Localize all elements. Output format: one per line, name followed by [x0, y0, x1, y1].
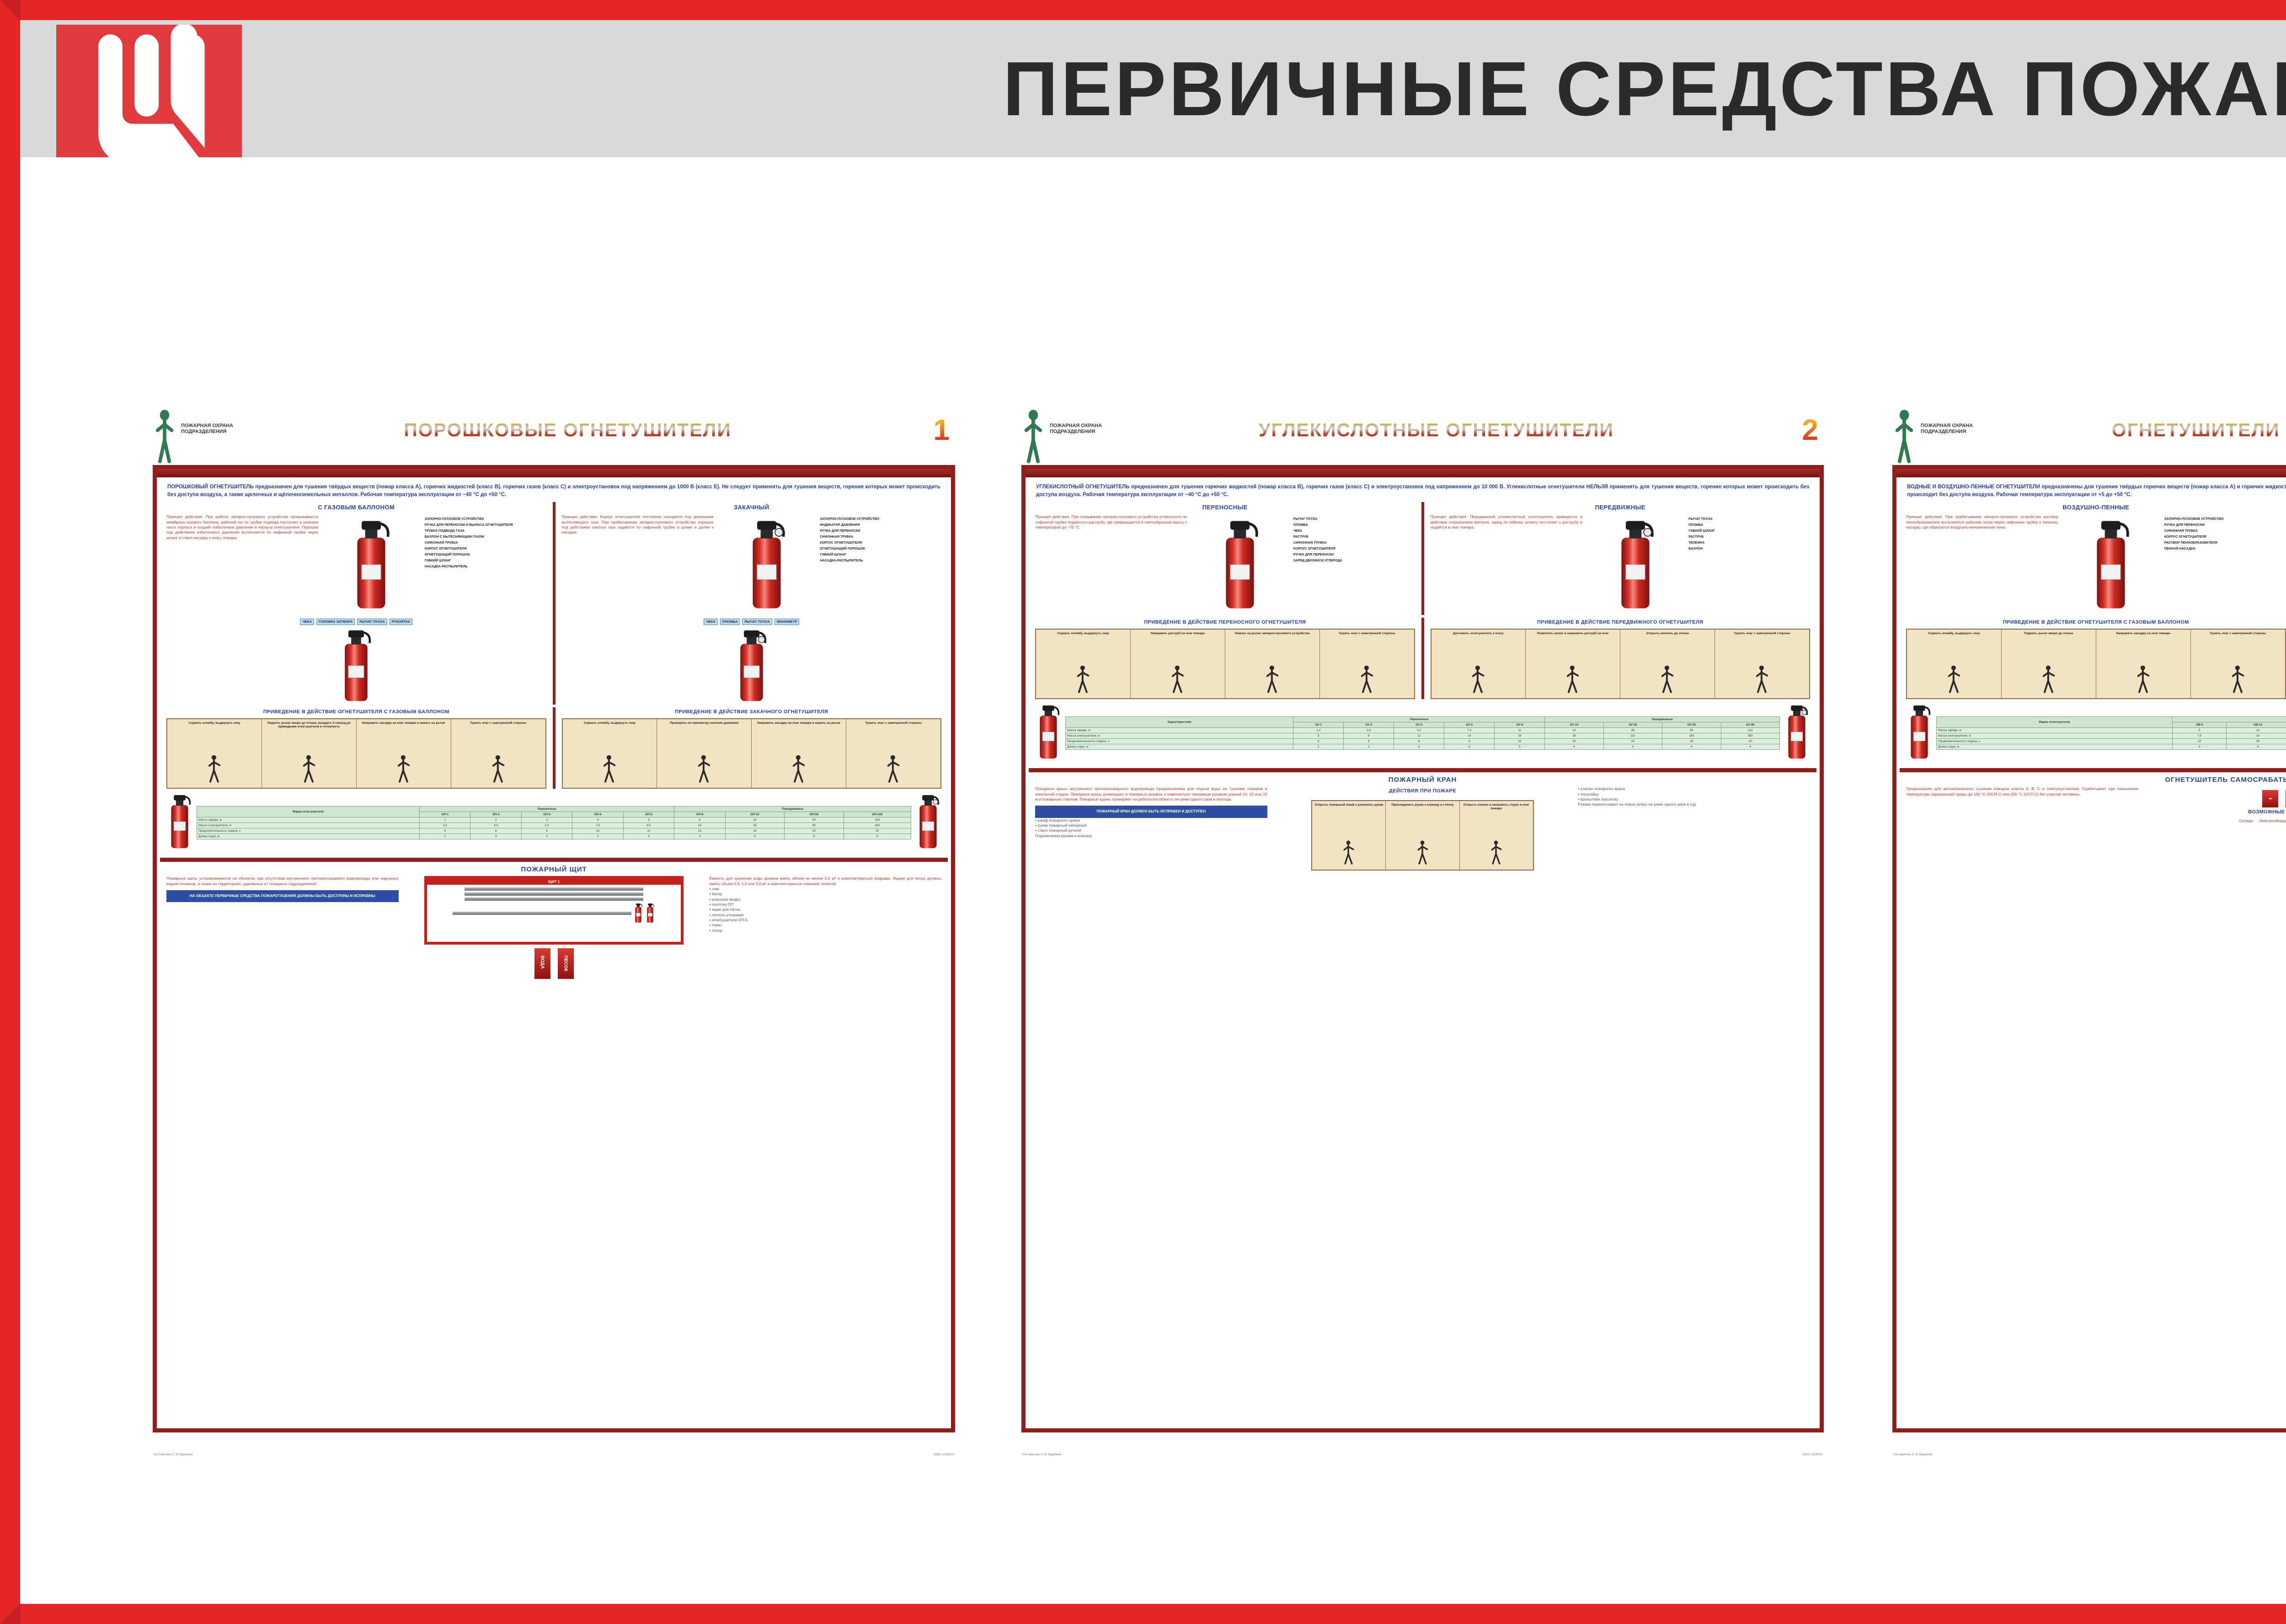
spec-cell: 2: [420, 834, 470, 839]
procedure-step-figure: [491, 754, 506, 785]
section-title: ВОЗДУШНО-ПЕННЫЕ: [1906, 504, 2286, 511]
diagram-label: ПЛОМБА: [1688, 523, 1810, 527]
worker-figure-icon: [207, 754, 222, 783]
poster-section-right: ПЕРЕДВИЖНЫЕПринцип действия. Передвижной…: [1421, 502, 1817, 615]
spec-cell: 15: [1662, 739, 1721, 744]
spec-row-label: Масса заряда, кг: [1937, 728, 2173, 733]
bottom-panel-right-text: Ёмкость для хранения воды должна иметь о…: [709, 876, 941, 887]
section-title: ПЕРЕДВИЖНЫЕ: [1431, 504, 1811, 511]
poster-sections: С ГАЗОВЫМ БАЛЛОНОМПринцип действия. При …: [160, 502, 948, 705]
worker-figure-icon: [1660, 665, 1675, 693]
worker-figure-icon: [1265, 665, 1280, 693]
spec-cell: 16: [725, 823, 784, 828]
spec-cell: 13: [674, 823, 725, 828]
diagram-label: РЫЧАГ ПУСКА: [1293, 517, 1415, 521]
spec-table: Марка огнетушителяПереносныеПередвижныеО…: [1936, 716, 2286, 750]
procedure-step-text: Проверить по манометру наличие давления: [659, 721, 749, 725]
spec-table: Марка огнетушителяПереносныеПередвижныеО…: [197, 806, 911, 839]
inventory-right: ▪ ящик для песка▪ лопата штыковая▪ огнет…: [709, 907, 941, 933]
procedure-step-figure: [696, 754, 712, 785]
spec-cell: 3: [1495, 744, 1545, 750]
section-diagram: [1586, 514, 1685, 615]
poster-procedures: ПРИВЕДЕНИЕ В ДЕЙСТВИЕ ОГНЕТУШИТЕЛЯ С ГАЗ…: [1900, 618, 2286, 699]
section-text: Принцип действия. Передвижной углекислот…: [1431, 514, 1582, 530]
worker-figure-icon: [491, 754, 506, 783]
worker-figure-icon: [696, 754, 712, 783]
spec-table-head: Марка огнетушителяПереносныеПередвижныеО…: [197, 807, 911, 817]
bottom-labels: 123: [2262, 790, 2286, 807]
spec-cell: 1: [420, 817, 470, 823]
procedure-step: Нажать на рычаг запорно-пускового устрой…: [1225, 630, 1320, 698]
diagram-label: ГИБКИЙ ШЛАНГ: [820, 553, 941, 556]
procedure-step: Поднять рычаг вверх до отказа, выждать 5…: [262, 719, 357, 788]
place-item: Склады: [2239, 818, 2254, 823]
procedure-step-text: Открыть вентиль до отказа: [1622, 632, 1713, 636]
procedure-step-text: Поднять рычаг вверх до отказа: [2003, 632, 2094, 636]
spec-left-extinguisher: [1906, 703, 1933, 764]
bottom-panel-left: Предназначен для автоматического тушения…: [1906, 786, 2138, 823]
section-extinguisher-photo: [166, 627, 546, 705]
spec-cell: 8: [1394, 739, 1444, 744]
section-title: ПЕРЕНОСНЫЕ: [1035, 504, 1415, 511]
procedure-step-text: Размотать шланг и направить раструб на о…: [1528, 632, 1618, 636]
spec-cell: 95: [785, 823, 844, 828]
procedure-step-text: Сорвать пломбу, выдернуть чеку: [1909, 632, 1999, 636]
spec-cell: 6: [420, 828, 470, 834]
spec-cell: 4: [1545, 744, 1603, 750]
spec-row-label: Длина струи, м: [197, 834, 420, 839]
poster-head: ПОЖАРНАЯ ОХРАНА ПОДРАЗДЕЛЕНИЯОГНЕТУШИТЕЛ…: [1892, 406, 2286, 465]
procedure-step-text: Сорвать пломбу, выдернуть чеку: [565, 721, 655, 725]
spec-cell: 5: [2173, 728, 2227, 733]
spec-column: ОП-2: [470, 812, 521, 817]
diagram-label: РАСТРУБ: [1293, 535, 1415, 539]
bottom-panel-left: Пожарные краны внутреннего противопожарн…: [1035, 786, 1267, 871]
callout-chip: РЫЧАГ ПУСКА: [357, 619, 387, 625]
procedure-step-text: Направить насадку на очаг пожара и нажат…: [753, 721, 844, 725]
poster-intro-text: УГЛЕКИСЛОТНЫЙ ОГНЕТУШИТЕЛЬ предназначен …: [1036, 483, 1809, 498]
bottom-panel-right: Ёмкость для хранения воды должна иметь о…: [709, 876, 941, 979]
spec-column: ОП-100: [844, 812, 911, 817]
poster-number: 2: [1802, 413, 1818, 447]
spec-group: Передвижные: [674, 807, 911, 812]
procedure-step-figure: [207, 754, 222, 785]
diagram-label: ЧЕКА: [1293, 529, 1415, 533]
spec-column: ОУ-5: [1444, 722, 1495, 728]
list-item: ▪ конусное ведро: [709, 897, 941, 902]
procedure-step: Направить насадку на очаг пожара и нажат…: [357, 719, 451, 788]
diagram-labels: ЗАПОРНО-ПУСКОВОЕ УСТРОЙСТВОИНДИКАТОР ДАВ…: [820, 514, 941, 562]
poster-bottom-panel: ПОЖАРНЫЙ КРАНПожарные краны внутреннего …: [1029, 768, 1816, 871]
procedure-title: ПРИВЕДЕНИЕ В ДЕЙСТВИЕ ЗАКАЧНОГО ОГНЕТУШИ…: [562, 709, 942, 715]
spec-cell: 3: [1444, 744, 1495, 750]
procedure-step-figure: [1170, 665, 1186, 695]
diagram-labels: ЗАПОРНО-ПУСКОВОЕ УСТРОЙСТВОРУЧКА ДЛЯ ПЕР…: [2164, 514, 2286, 550]
procedure-1: ПРИВЕДЕНИЕ В ДЕЙСТВИЕ ПЕРЕНОСНОГО ОГНЕТУ…: [1029, 618, 1421, 699]
spec-cell: 15: [725, 828, 784, 834]
poster-co2-extinguishers[interactable]: ПОЖАРНАЯ ОХРАНА ПОДРАЗДЕЛЕНИЯУГЛЕКИСЛОТН…: [1021, 406, 1824, 1458]
callout-chip: ПЛОМБА: [720, 619, 740, 625]
spec-right-extinguisher: [915, 792, 941, 853]
spec-cell: 3: [1394, 744, 1444, 750]
list-item: ▪ рукав пожарный напорный: [1035, 823, 1267, 828]
spec-corner: Характеристики: [1066, 717, 1293, 728]
diagram-labels: ЗАПОРНО-ПУСКОВОЕ УСТРОЙСТВОРУЧКА ДЛЯ ПЕР…: [425, 514, 546, 568]
list-item: ▪ лопата штыковая: [709, 913, 941, 918]
procedure-step-text: Направить насадку на очаг пожара и нажат…: [358, 721, 449, 725]
poster-title: ОГНЕТУШИТЕЛИ НА ВОДНОЙ ОСНОВЕ: [1975, 419, 2286, 441]
bottom-panel-title: ПОЖАРНЫЙ ЩИТ: [160, 865, 948, 873]
diagram-label: БАЛЛОН: [1688, 547, 1810, 550]
list-item: ▪ багор: [709, 892, 941, 897]
spec-cell: 4: [572, 817, 623, 823]
fire-extinguisher-icon: [1906, 703, 1933, 761]
spec-column: ОВ-10: [2227, 722, 2286, 728]
inventory-label: ПЕСОК: [558, 948, 574, 979]
diagram-label: НАСАДКА-РАСПЫЛИТЕЛЬ: [820, 559, 941, 562]
bottom-panel-row: Пожарные щиты устанавливаются на объекта…: [160, 876, 948, 979]
spec-cell: 14: [2227, 733, 2286, 739]
bottom-step-figure: [1416, 840, 1430, 867]
list-item: ▪ огнетушители ОП-5: [709, 918, 941, 923]
fire-extinguisher-icon: [349, 517, 393, 613]
section-callouts: ЧЕКАПЛОМБАРЫЧАГ ПУСКАМАНОМЕТР: [562, 619, 942, 625]
procedure-step-figure: [2230, 665, 2246, 695]
list-item: ▪ кронштейн (кассета): [1578, 797, 1810, 802]
diagram-labels: РЫЧАГ ПУСКАПЛОМБАГИБКИЙ ШЛАНГРАСТРУБТЕЛЕ…: [1688, 514, 1810, 550]
bottom-panel-center: 123ВОЗМОЖНЫЕ МЕСТА УСТАНОВКИСкладыЭлектр…: [2143, 786, 2286, 823]
credits-left: Составитель С. В. Ефремов: [1022, 1453, 1061, 1456]
spec-cell: 8,5: [623, 823, 674, 828]
procedure-step-text: Нажать на рычаг запорно-пускового устрой…: [1227, 632, 1318, 636]
procedure-step-figure: [396, 754, 411, 785]
list-item: ▪ клапан пожарного крана: [1578, 786, 1810, 791]
section-row: Принцип действия. При срабатывании запор…: [1906, 514, 2286, 615]
spec-cell: 11: [1495, 728, 1545, 733]
procedure-step: Направить насадку на очаг пожара и нажат…: [752, 719, 846, 788]
procedure-1: ПРИВЕДЕНИЕ В ДЕЙСТВИЕ ОГНЕТУШИТЕЛЯ С ГАЗ…: [1900, 618, 2286, 699]
fire-extinguisher-icon: [915, 792, 941, 851]
procedure-step-figure: [2136, 665, 2151, 695]
spec-column: ОУ-10: [1545, 722, 1603, 728]
spec-cell: 350: [1721, 733, 1779, 739]
poster-water-extinguishers[interactable]: ПОЖАРНАЯ ОХРАНА ПОДРАЗДЕЛЕНИЯОГНЕТУШИТЕЛ…: [1892, 406, 2286, 1458]
poster-intro-text: ПОРОШКОВЫЙ ОГНЕТУШИТЕЛЬ предназначен для…: [167, 483, 940, 498]
section-title: С ГАЗОВЫМ БАЛЛОНОМ: [166, 504, 546, 511]
credits-right: ООО «СОЮЗ»: [934, 1453, 954, 1456]
poster-credits: Составитель С. В. ЕфремовООО «СОЮЗ»: [1893, 1453, 2286, 1456]
worker-figure-icon: [1359, 665, 1375, 693]
procedure-step-figure: [1754, 665, 1770, 695]
spec-cell: 35: [1603, 728, 1662, 733]
spec-cell: 30: [844, 828, 911, 834]
procedure-step: Тушить очаг с наветренной стороны: [451, 719, 545, 788]
spec-cell: 112: [1721, 728, 1779, 733]
poster-bottom-panel: ПОЖАРНЫЙ ЩИТПожарные щиты устанавливаютс…: [160, 858, 948, 979]
spec-cell: 15: [1603, 739, 1662, 744]
table-row: Марка огнетушителяПереносныеПередвижные: [1937, 717, 2286, 722]
procedure-step: Сорвать пломбу, выдернуть чеку: [1907, 630, 2002, 698]
fire-extinguisher-icon: [645, 903, 655, 924]
spec-cell: 6: [844, 834, 911, 839]
worker-figure-icon: [1342, 840, 1356, 865]
section-extinguisher-photo: [562, 627, 942, 705]
credits-right: ООО «СОЮЗ»: [1803, 1453, 1823, 1456]
bottom-panel-row: Предназначен для автоматического тушения…: [1900, 786, 2286, 823]
spec-table-body: Масса заряда, кг510481050100Масса огнету…: [1937, 728, 2286, 750]
list-item: ▪ топор: [709, 928, 941, 933]
diagram-label: РУЧКА ДЛЯ ПЕРЕНОСКИ: [1293, 553, 1415, 556]
diagram-label: СИФОННАЯ ТРУБКА: [1293, 541, 1415, 545]
spec-column: ОП-10: [725, 812, 784, 817]
poster-head: ПОЖАРНАЯ ОХРАНА ПОДРАЗДЕЛЕНИЯПОРОШКОВЫЕ …: [153, 406, 955, 465]
procedure-step: Открыть вентиль до отказа: [1620, 630, 1715, 698]
procedure-step-text: Сорвать пломбу, выдернуть чеку: [169, 721, 260, 725]
section-row: Принцип действия. При открывании запорно…: [1035, 514, 1415, 615]
fire-extinguisher-icon: [1218, 517, 1262, 613]
firefighter-icon: [153, 409, 176, 463]
bottom-panel-left-text: Пожарные щиты устанавливаются на объекта…: [166, 876, 399, 887]
procedure-step-text: Тушить очаг с наветренной стороны: [848, 721, 939, 725]
procedure-title: ПРИВЕДЕНИЕ В ДЕЙСТВИЕ ОГНЕТУШИТЕЛЯ С ГАЗ…: [166, 709, 546, 715]
spec-column: ОП-1: [420, 812, 470, 817]
bottom-panel-center: ЩИТ 1ВОДАПЕСОК: [403, 876, 705, 979]
spec-cell: 6: [1293, 739, 1344, 744]
spec-table-wrap: Марка огнетушителяПереносныеПередвижныеО…: [166, 792, 941, 853]
procedure-step-text: Поднять рычаг вверх до отказа, выждать 5…: [264, 721, 354, 729]
spec-cell: 4: [1721, 744, 1779, 750]
spec-cell: 7,0: [1444, 728, 1495, 733]
spec-cell: 110: [1603, 733, 1662, 739]
procedure-step-text: Тушить очаг с наветренной стороны: [1322, 632, 1412, 636]
spec-row-label: Длина струи, м: [1937, 744, 2173, 750]
spec-cell: 8: [1344, 733, 1394, 739]
procedure-step-text: Тушить очаг с наветренной стороны: [1717, 632, 1807, 636]
table-row: Продолжительность подачи, с2030203030456…: [1937, 739, 2286, 744]
worker-figure-icon: [1754, 665, 1770, 693]
spec-cell: 10: [725, 817, 784, 823]
fire-extinguisher-icon: [166, 792, 193, 851]
spec-column: ОП-5: [623, 812, 674, 817]
spec-row-label: Масса огнетушителя, кг: [197, 823, 420, 828]
table-row: Длина струи, м4444466: [1937, 744, 2286, 750]
spec-group: Передвижные: [1545, 717, 1780, 722]
worker-figure-icon: [301, 754, 317, 783]
spec-cell: 2: [1293, 744, 1344, 750]
procedure-step-figure: [1359, 665, 1375, 695]
bottom-labels: ВОДАПЕСОК: [534, 948, 574, 979]
spec-table-body: Масса заряда, кг1234581050100Масса огнет…: [197, 817, 911, 839]
callout-chip: РУКОЯТКА: [390, 619, 412, 625]
spec-left-extinguisher: [166, 792, 193, 853]
worker-figure-icon: [1170, 665, 1186, 693]
diagram-label: ЗАПОРНО-ПУСКОВОЕ УСТРОЙСТВО: [820, 517, 941, 521]
section-text: Принцип действия. При работе запорно-пус…: [166, 514, 318, 540]
table-row: Продолжительность подачи, с6889101015152…: [1066, 739, 1780, 744]
inventory-left: ▪ лом▪ багор▪ конусное ведро▪ полотно ПП: [709, 887, 941, 907]
procedure-step-text: Направить насадку на очаг пожара: [2098, 632, 2189, 636]
section-diagram: [1191, 514, 1290, 615]
diagram-label: ЗАПОРНО-ПУСКОВОЕ УСТРОЙСТВО: [2164, 517, 2286, 521]
table-row: Масса заряда, кг1,42,84,27,011143556112: [1066, 728, 1780, 733]
spec-cell: 4: [674, 834, 725, 839]
diagram-label: НАСАДКА-РАСПЫЛИТЕЛЬ: [425, 565, 546, 568]
diagram-label: ГИБКИЙ ШЛАНГ: [1688, 529, 1810, 533]
place-item: Электрооборудование: [2259, 818, 2286, 823]
spec-cell: 29: [1495, 733, 1545, 739]
spec-corner: Марка огнетушителя: [197, 807, 420, 817]
inventory-label: ВОДА: [534, 948, 550, 979]
worker-figure-icon: [791, 754, 807, 783]
list-item: ▪ полугайка: [1578, 792, 1810, 797]
callout-chip: ЧЕКА: [300, 619, 314, 625]
table-row: Масса заряда, кг510481050100: [1937, 728, 2286, 733]
bottom-panel-row: Пожарные краны внутреннего противопожарн…: [1029, 786, 1816, 871]
fire-extinguisher-icon: [745, 517, 789, 613]
firefighter-icon: [1021, 409, 1045, 463]
spec-cell: 180: [1662, 733, 1721, 739]
poster-icon-caption: ПОЖАРНАЯ ОХРАНА ПОДРАЗДЕЛЕНИЯ: [1921, 423, 1976, 434]
diagram-label: РУЧКА ДЛЯ ПЕРЕНОСКИ И ВЫНОСА ОГНЕТУШИТЕЛ…: [425, 523, 546, 527]
poster-top-bar: [1896, 469, 2286, 477]
worker-figure-icon: [1565, 665, 1581, 693]
procedure-step: Доставить огнетушитель к очагу: [1431, 630, 1526, 698]
spec-column: ОП-50: [785, 812, 844, 817]
procedure-step-figure: [301, 754, 317, 785]
diagram-label: РУЧКА ДЛЯ ПЕРЕНОСКИ: [820, 529, 941, 533]
spec-cell: 5: [725, 834, 784, 839]
callout-chip: МАНОМЕТР: [774, 619, 799, 625]
procedure-step-figure: [1075, 665, 1091, 695]
spec-cell: 2,8: [1344, 728, 1394, 733]
procedure-step-figure: [602, 754, 617, 785]
spec-column: ОУ-25: [1603, 722, 1662, 728]
bottom-panel-note: НА ОБЪЕКТЕ ПЕРВИЧНЫЕ СРЕДСТВА ПОЖАРОТУШЕ…: [166, 890, 399, 902]
poster-body: ПОРОШКОВЫЙ ОГНЕТУШИТЕЛЬ предназначен для…: [153, 465, 955, 1432]
section-row: Принцип действия. При работе запорно-пус…: [166, 514, 546, 615]
diagram-label: ИНДИКАТОР ДАВЛЕНИЯ: [820, 523, 941, 527]
spec-cell: 3: [470, 834, 521, 839]
diagram-label: РУЧКА ДЛЯ ПЕРЕНОСКИ: [2164, 523, 2286, 527]
worker-figure-icon: [2230, 665, 2246, 693]
spec-column: ОУ-3: [1394, 722, 1444, 728]
bottom-step: Присоединить рукав к клапану и стволу: [1386, 801, 1459, 870]
bottom-list-right: ▪ клапан пожарного крана▪ полугайка▪ кро…: [1578, 786, 1810, 802]
poster-powder-extinguishers[interactable]: ПОЖАРНАЯ ОХРАНА ПОДРАЗДЕЛЕНИЯПОРОШКОВЫЕ …: [153, 406, 955, 1458]
procedure-step-text: Доставить огнетушитель к очагу: [1433, 632, 1524, 636]
list-item: ▪ лом: [709, 887, 941, 892]
procedure-2: ПРИВЕДЕНИЕ В ДЕЙСТВИЕ ЗАКАЧНОГО ОГНЕТУШИ…: [553, 707, 948, 789]
diagram-label: КОРПУС ОГНЕТУШИТЕЛЯ: [2164, 535, 2286, 539]
list-item: ▪ ящик для песка: [709, 907, 941, 912]
spec-cell: 12: [1394, 733, 1444, 739]
worker-figure-icon: [1490, 840, 1503, 865]
bottom-step-text: Открыть клапан и направить струю в очаг …: [1462, 803, 1531, 811]
procedure-step-figure: [2041, 665, 2056, 695]
diagram-label: РАСТРУБ: [1688, 535, 1810, 539]
spec-cell: 25: [785, 828, 844, 834]
diagram-label: БАЛЛОН С ВЫТЕСНЯЮЩИМ ГАЗОМ: [425, 535, 546, 539]
procedure-step: Сорвать пломбу, выдернуть чеку: [1036, 630, 1131, 698]
poster-section-left: С ГАЗОВЫМ БАЛЛОНОМПринцип действия. При …: [160, 502, 553, 705]
spec-column: ОУ-1: [1293, 722, 1344, 728]
procedure-steps: Сорвать пломбу, выдернуть чекуПоднять ры…: [166, 718, 546, 789]
diagram-label: РАСТВОР ПЕНООБРАЗОВАТЕЛЯ: [2164, 541, 2286, 545]
spec-cell: 7,0: [572, 823, 623, 828]
table-row: ХарактеристикиПереносныеПередвижные: [1066, 717, 1780, 722]
procedure-step: Тушить очаг с наветренной стороны: [2191, 630, 2285, 698]
spec-cell: 7,5: [2173, 733, 2227, 739]
frame-corner-bottom-left: [0, 1604, 20, 1624]
poster-section-right: ЗАКАЧНЫЙПринцип действия. Корпус огнетуш…: [553, 502, 948, 705]
callout-chip: РЫЧАГ ПУСКА: [742, 619, 772, 625]
bottom-list-left: ▪ шкаф пожарного крана▪ рукав пожарный н…: [1035, 818, 1267, 833]
spec-cell: 56: [1662, 728, 1721, 733]
spec-row-label: Продолжительность подачи, с: [197, 828, 420, 834]
spec-cell: 5,5: [521, 823, 572, 828]
spec-cell: 4: [2173, 744, 2227, 750]
poster-sections: ВОЗДУШНО-ПЕННЫЕПринцип действия. При сра…: [1900, 502, 2286, 615]
poster-section-left: ВОЗДУШНО-ПЕННЫЕПринцип действия. При сра…: [1900, 502, 2286, 615]
poster-sections: ПЕРЕНОСНЫЕПринцип действия. При открыван…: [1029, 502, 1816, 615]
spec-cell: 10: [572, 828, 623, 834]
spec-cell: 8: [470, 828, 521, 834]
diagram-label: КОРПУС ОГНЕТУШИТЕЛЯ: [1293, 547, 1415, 550]
spec-cell: 20: [1721, 739, 1779, 744]
spec-cell: 8: [674, 817, 725, 823]
spec-row-label: Масса огнетушителя, кг: [1066, 733, 1293, 739]
section-row: Принцип действия. Передвижной углекислот…: [1431, 514, 1811, 615]
spec-cell: 19: [1444, 733, 1495, 739]
table-row: Длина струи, м223334444: [1066, 744, 1780, 750]
table-row: Масса заряда, кг1234581050100: [197, 817, 911, 823]
procedure-step: Направить насадку на очаг пожара: [2096, 630, 2191, 698]
diagram-label: ОГНЕТУШАЩИЙ ПОРОШОК: [820, 547, 941, 550]
worker-figure-icon: [1075, 665, 1091, 693]
fire-extinguisher-icon: [1784, 703, 1810, 761]
spec-cell: 4: [623, 834, 674, 839]
procedure-step-figure: [1660, 665, 1675, 695]
spec-cell: 3: [521, 817, 572, 823]
procedure-step-figure: [791, 754, 807, 785]
poster-intro-text: ВОДНЫЕ И ВОЗДУШНО-ПЕННЫЕ ОГНЕТУШИТЕЛИ пр…: [1907, 483, 2286, 498]
procedure-step: Сорвать пломбу, выдернуть чеку: [563, 719, 657, 788]
fire-shield-banner: ЩИТ 1: [427, 879, 681, 885]
inventory-label: 1: [2262, 790, 2278, 807]
list-item: ▪ шкаф пожарного крана: [1035, 818, 1267, 823]
spec-cell: 4: [1603, 744, 1662, 750]
procedure-step-text: Тушить очаг с наветренной стороны: [2193, 632, 2283, 636]
procedure-2: ПРИВЕДЕНИЕ В ДЕЙСТВИЕ ПЕРЕДВИЖНОГО ОГНЕТ…: [1421, 618, 1817, 699]
fire-extinguisher-icon: [734, 627, 769, 705]
procedure-steps: Сорвать пломбу, выдернуть чекуПроверить …: [562, 718, 942, 789]
list-item: ▪ полотно ПП: [709, 902, 941, 907]
poster-title: УГЛЕКИСЛОТНЫЕ ОГНЕТУШИТЕЛИ: [1104, 419, 1769, 441]
spec-cell: 35: [1545, 733, 1603, 739]
list-item: ▪ ствол пожарный ручной: [1035, 828, 1267, 833]
bottom-step-figure: [1342, 840, 1356, 867]
poster-number: 1: [933, 413, 950, 447]
fire-shield: ЩИТ 1: [424, 876, 684, 945]
procedure-step-figure: [1265, 665, 1280, 695]
callout-chip: ГОЛОВКА ЗАТВОРА: [316, 619, 355, 625]
poster-body: УГЛЕКИСЛОТНЫЙ ОГНЕТУШИТЕЛЬ предназначен …: [1021, 465, 1824, 1432]
diagram-label: ПЕННАЯ НАСАДКА: [2164, 547, 2286, 550]
procedure-step-text: Сорвать пломбу, выдернуть чеку: [1038, 632, 1128, 636]
bottom-panel-left-text: Предназначен для автоматического тушения…: [1906, 786, 2138, 797]
spec-column: ОП-3: [521, 812, 572, 817]
procedure-step-figure: [1470, 665, 1486, 695]
